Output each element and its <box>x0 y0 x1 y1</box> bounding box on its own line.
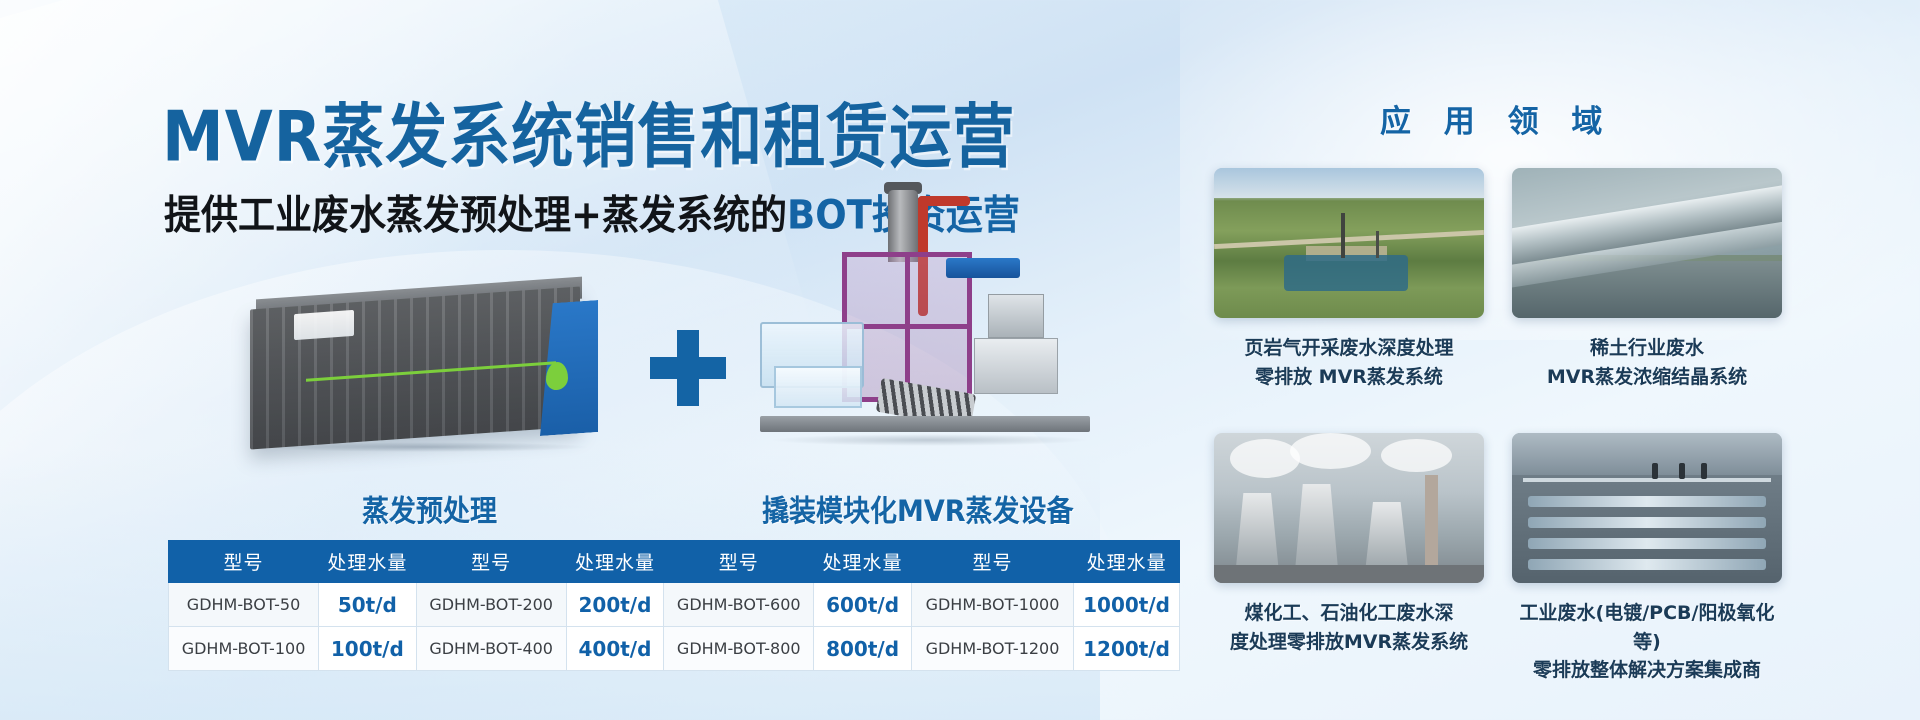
left-panel: MVR蒸发系统销售和租赁运营 提供工业废水蒸发预处理+蒸发系统的BOT投资运营 … <box>0 0 1190 720</box>
applications-panel: 应 用 领 域 页岩气开采废水深度处理 零排放 MVR蒸发系统 稀土行业废水 M… <box>1190 0 1920 720</box>
skid-brand-badge <box>946 258 1020 278</box>
caption-line-1: 稀土行业废水 <box>1512 334 1782 363</box>
caption-line-2: 零排放整体解决方案集成商 <box>1512 656 1782 685</box>
skid-shadow <box>770 434 1090 446</box>
table-cell-model: GDHM-BOT-600 <box>664 583 814 627</box>
plus-symbol-icon <box>650 330 726 406</box>
table-row: GDHM-BOT-50 50t/d GDHM-BOT-200 200t/d GD… <box>169 583 1180 627</box>
table-cell-model: GDHM-BOT-200 <box>416 583 566 627</box>
table-cell-model: GDHM-BOT-1200 <box>911 627 1073 671</box>
table-cell-capacity: 800t/d <box>814 627 912 671</box>
skid-clear-tank-lower <box>774 366 862 408</box>
application-caption: 工业废水(电镀/PCB/阳极氧化等) 零排放整体解决方案集成商 <box>1512 599 1782 685</box>
table-cell-model: GDHM-BOT-50 <box>169 583 319 627</box>
coal-chemical-plant-photo <box>1214 433 1484 583</box>
table-cell-capacity: 1000t/d <box>1074 583 1180 627</box>
application-caption: 稀土行业废水 MVR蒸发浓缩结晶系统 <box>1512 334 1782 391</box>
application-caption: 页岩气开采废水深度处理 零排放 MVR蒸发系统 <box>1214 334 1484 391</box>
table-cell-model: GDHM-BOT-800 <box>664 627 814 671</box>
equipment-label-right: 撬装模块化MVR蒸发设备 <box>762 487 1074 530</box>
equipment-label-left: 蒸发预处理 <box>362 487 497 530</box>
caption-line-1: 煤化工、石油化工废水深 <box>1214 599 1484 628</box>
industrial-wastewater-tanks-photo <box>1512 433 1782 583</box>
table-row: GDHM-BOT-100 100t/d GDHM-BOT-400 400t/d … <box>169 627 1180 671</box>
container-brand-logo <box>294 310 354 340</box>
table-cell-capacity: 100t/d <box>319 627 417 671</box>
table-cell-capacity: 200t/d <box>566 583 664 627</box>
table-header-cell: 处理水量 <box>1074 541 1180 583</box>
table-header-row: 型号 处理水量 型号 处理水量 型号 处理水量 型号 处理水量 <box>169 541 1180 583</box>
skid-mvr-equipment-image <box>760 190 1120 465</box>
table-cell-capacity: 600t/d <box>814 583 912 627</box>
application-card[interactable]: 工业废水(电镀/PCB/阳极氧化等) 零排放整体解决方案集成商 <box>1512 433 1782 685</box>
container-ribs <box>250 286 580 449</box>
table-cell-model: GDHM-BOT-100 <box>169 627 319 671</box>
table-header-cell: 型号 <box>664 541 814 583</box>
caption-line-2: 零排放 MVR蒸发系统 <box>1214 363 1484 392</box>
caption-line-2: 度处理零排放MVR蒸发系统 <box>1214 628 1484 657</box>
table-header-cell: 处理水量 <box>566 541 664 583</box>
application-card[interactable]: 稀土行业废水 MVR蒸发浓缩结晶系统 <box>1512 168 1782 391</box>
subtitle-plain-text: 提供工业废水蒸发预处理+蒸发系统的 <box>164 192 787 238</box>
skid-red-pipe-horizontal <box>918 196 970 206</box>
skid-control-box-upper <box>988 294 1044 338</box>
caption-line-2: MVR蒸发浓缩结晶系统 <box>1512 363 1782 392</box>
table-header-cell: 型号 <box>911 541 1073 583</box>
page-title: MVR蒸发系统销售和租赁运营 <box>162 80 1015 181</box>
specification-table: 型号 处理水量 型号 处理水量 型号 处理水量 型号 处理水量 GDHM-BOT… <box>168 540 1180 671</box>
application-caption: 煤化工、石油化工废水深 度处理零排放MVR蒸发系统 <box>1214 599 1484 656</box>
table-cell-capacity: 50t/d <box>319 583 417 627</box>
table-header-cell: 处理水量 <box>319 541 417 583</box>
table-cell-capacity: 1200t/d <box>1074 627 1180 671</box>
caption-line-1: 页岩气开采废水深度处理 <box>1214 334 1484 363</box>
rare-earth-pipeline-photo <box>1512 168 1782 318</box>
table-header-cell: 型号 <box>169 541 319 583</box>
table-cell-model: GDHM-BOT-1000 <box>911 583 1073 627</box>
shale-gas-field-photo <box>1214 168 1484 318</box>
evaporation-pretreatment-image <box>250 280 620 460</box>
table-header-cell: 型号 <box>416 541 566 583</box>
application-card[interactable]: 页岩气开采废水深度处理 零排放 MVR蒸发系统 <box>1214 168 1484 391</box>
table-cell-model: GDHM-BOT-400 <box>416 627 566 671</box>
table-header-cell: 处理水量 <box>814 541 912 583</box>
applications-title: 应 用 领 域 <box>1380 96 1613 141</box>
application-card[interactable]: 煤化工、石油化工废水深 度处理零排放MVR蒸发系统 <box>1214 433 1484 656</box>
skid-control-box-lower <box>974 338 1058 394</box>
table-cell-capacity: 400t/d <box>566 627 664 671</box>
skid-base-platform <box>760 416 1090 432</box>
caption-line-1: 工业废水(电镀/PCB/阳极氧化等) <box>1512 599 1782 656</box>
